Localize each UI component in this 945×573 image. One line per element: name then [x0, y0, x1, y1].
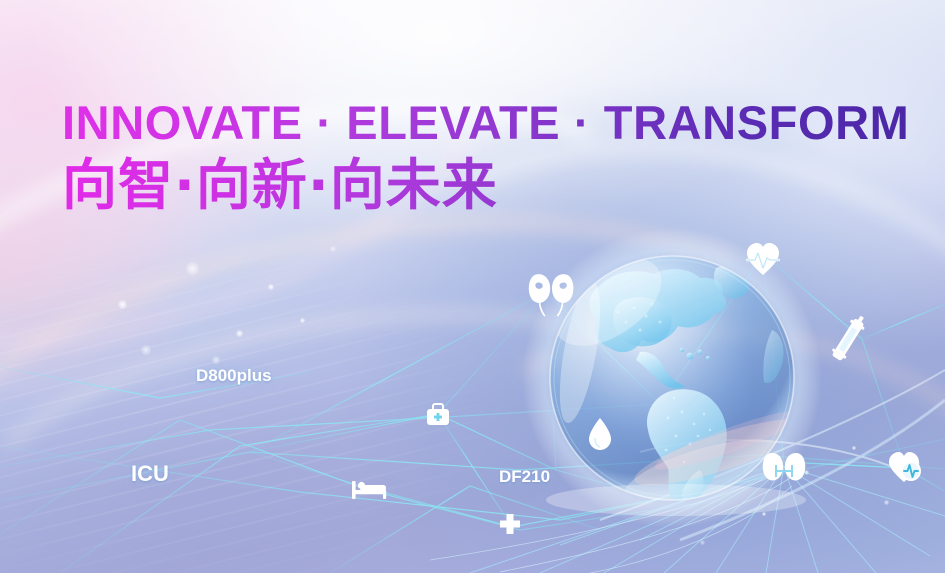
headline-group: INNOVATE · ELEVATE · TRANSFORM 向智·向新·向未来: [62, 98, 909, 216]
hospital-bed-icon: [352, 481, 386, 499]
medical-kit-icon: [427, 404, 449, 425]
syringe-icon: [830, 312, 870, 362]
water-drop-icon: [589, 418, 611, 450]
medical-icon-overlay: [0, 0, 945, 573]
headline-english: INNOVATE · ELEVATE · TRANSFORM: [62, 98, 909, 149]
medical-cross-icon: [500, 514, 520, 534]
product-label-d800plus: D800plus: [196, 366, 272, 386]
product-label-icu: ICU: [131, 461, 169, 487]
headline-chinese: 向智·向新·向未来: [62, 155, 909, 217]
product-label-df210: DF210: [499, 467, 550, 487]
kidneys-icon: [529, 274, 574, 316]
heart-pulse-icon: [747, 243, 779, 275]
kidneys-icon: [763, 453, 805, 480]
promotional-banner: INNOVATE · ELEVATE · TRANSFORM 向智·向新·向未来…: [0, 0, 945, 573]
heart-monitor-icon: [889, 452, 921, 482]
